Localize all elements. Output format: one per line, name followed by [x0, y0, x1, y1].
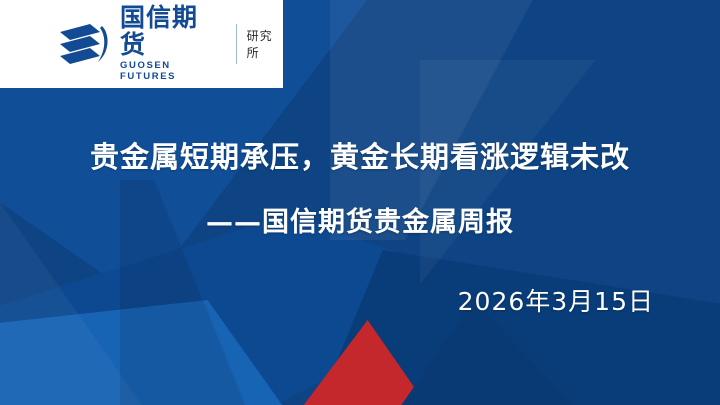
- page-title: 贵金属短期承压，黄金长期看涨逻辑未改: [0, 134, 720, 176]
- logo-text-block: 国信期货 GUOSEN FUTURES: [120, 20, 224, 68]
- logo-divider: [236, 24, 237, 64]
- title-slide: 国信期货 GUOSEN FUTURES 研究所 贵金属短期承压，黄金长期看涨逻辑…: [0, 0, 720, 405]
- logo-header-band: 国信期货 GUOSEN FUTURES 研究所: [0, 0, 283, 88]
- page-subtitle: ——国信期货贵金属周报: [0, 200, 720, 239]
- logo-company-en: GUOSEN FUTURES: [120, 60, 224, 83]
- report-date: 2026年3月15日: [458, 282, 654, 318]
- guosen-futures-logo-mark: [56, 20, 112, 68]
- logo-company-cn: 国信期货: [120, 5, 224, 58]
- logo-department: 研究所: [247, 27, 283, 61]
- brand-logo: 国信期货 GUOSEN FUTURES 研究所: [56, 18, 283, 70]
